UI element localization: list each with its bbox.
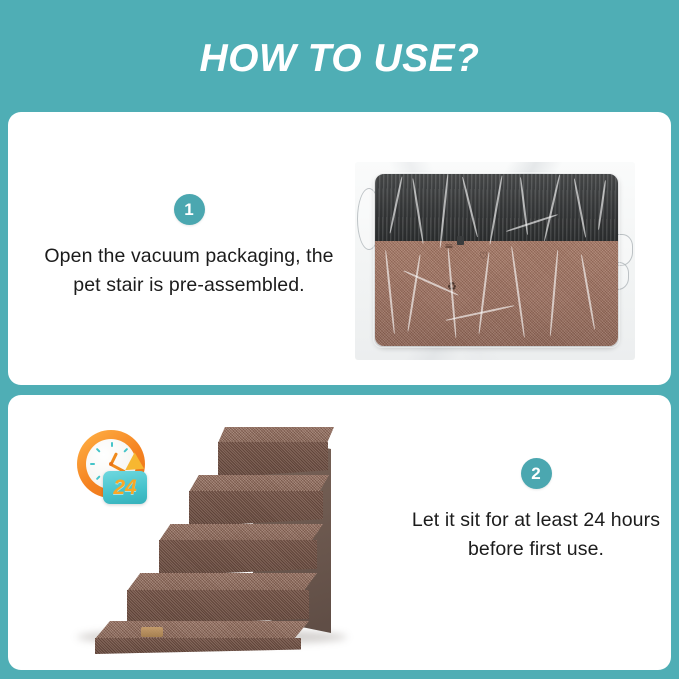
stair-tread-3 [159,524,323,541]
step-2-text-block: 2 Let it sit for at least 24 hours befor… [391,458,671,564]
badge-24-label: 24 [113,477,136,498]
badge-24-hours: 24 [103,471,147,504]
pet-stairs-image: 24 [63,413,383,653]
brand-label-tag [141,627,163,637]
clock-24-hours-icon: 24 [71,426,163,514]
stair-tread-1 [95,621,309,639]
stair-tread-4 [189,475,329,492]
step-card-1: 1 Open the vacuum packaging, the pet sta… [8,112,671,385]
clock-tick [111,442,113,447]
stair-tread-2 [127,573,317,591]
header: HOW TO USE? [0,0,679,112]
vacuum-package-image: ♻ ♡ ||| [355,162,635,360]
clock-center-hub [109,462,113,466]
step-card-2: 24 2 Let it sit for at least 24 hours be… [8,395,671,670]
step-caption-1: Open the vacuum packaging, the pet stair… [44,242,334,300]
page-title: HOW TO USE? [200,39,480,78]
clock-tick [123,448,128,453]
step-badge-2: 2 [521,458,552,489]
package-seam [373,172,620,348]
how-to-use-infographic: HOW TO USE? 1 Open the vacuum packaging,… [0,0,679,679]
clock-tick [96,475,101,480]
step-caption-2: Let it sit for at least 24 hours before … [391,506,671,564]
step-badge-1: 1 [174,194,205,225]
step-1-text-block: 1 Open the vacuum packaging, the pet sta… [44,194,334,300]
stair-tread-5 [218,427,334,443]
stair-riser-1 [95,638,301,654]
clock-tick [90,463,95,465]
clock-tick [96,448,101,453]
